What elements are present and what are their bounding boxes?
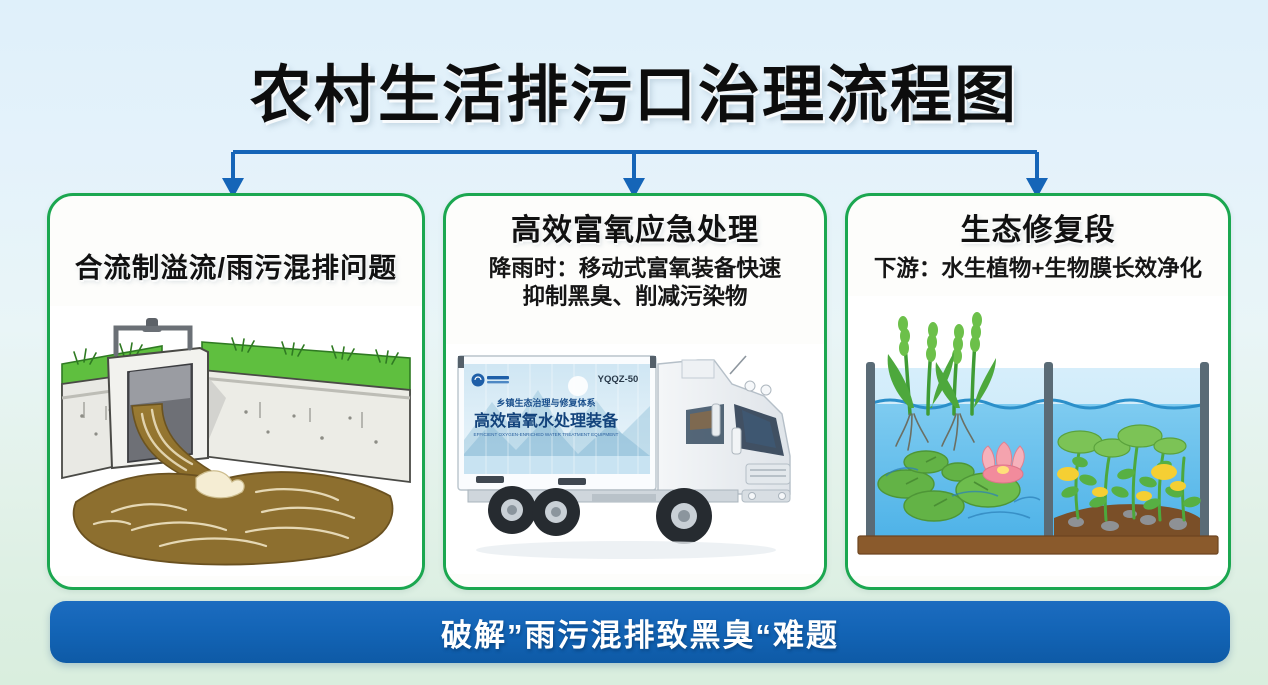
step-3-header: 生态修复段 下游：水生植物+生物膜长效净化 [848, 214, 1228, 283]
step-1-header: 合流制溢流/雨污混排问题 [50, 252, 422, 284]
truck-body-line2: 高效富氧水处理装备 [474, 411, 619, 430]
bottom-banner[interactable]: 破解”雨污混排致黑臭“难题 [50, 601, 1230, 663]
step-2-header: 高效富氧应急处理 降雨时：移动式富氧装备快速 抑制黑臭、削减污染物 [446, 214, 824, 312]
step-2-subtitle: 降雨时：移动式富氧装备快速 抑制黑臭、削减污染物 [446, 255, 824, 313]
step-2-subtitle-line1: 降雨时：移动式富氧装备快速 [446, 255, 824, 284]
aquatic-plants-cross-section-illustration [848, 296, 1228, 576]
oxygen-treatment-truck-photo: YQQZ-50 乡镇生态治理与修复体系 高效富氧水处理装备 EFFICIENT … [446, 344, 824, 574]
bottom-banner-text: 破解”雨污混排致黑臭“难题 [441, 610, 839, 655]
steps-row: 合流制溢流/雨污混排问题 [0, 193, 1268, 585]
step-2-subtitle-line2: 抑制黑臭、削减污染物 [446, 283, 824, 312]
truck-body-line1: 乡镇生态治理与修复体系 [496, 397, 595, 408]
page-title: 农村生活排污口治理流程图 [0, 44, 1268, 134]
lotus-flower [982, 442, 1024, 483]
step-2-title: 高效富氧应急处理 [446, 214, 824, 249]
step-3-subtitle: 下游：水生植物+生物膜长效净化 [848, 255, 1228, 284]
sewage-outfall-discharge-illustration [50, 306, 422, 576]
step-card-1[interactable]: 合流制溢流/雨污混排问题 [47, 193, 425, 590]
step-card-3[interactable]: 生态修复段 下游：水生植物+生物膜长效净化 [845, 193, 1231, 590]
step-3-title: 生态修复段 [848, 214, 1228, 249]
truck-body-line3: EFFICIENT OXYGEN-ENRICHED WATER TREATMEN… [474, 432, 619, 437]
infographic-canvas: 农村生活排污口治理流程图 合流制溢流/雨污混排问题 [0, 0, 1268, 685]
step-1-title: 合流制溢流/雨污混排问题 [50, 252, 422, 284]
truck-model-code: YQQZ-50 [598, 374, 639, 385]
step-card-2[interactable]: 高效富氧应急处理 降雨时：移动式富氧装备快速 抑制黑臭、削减污染物 [443, 193, 827, 590]
